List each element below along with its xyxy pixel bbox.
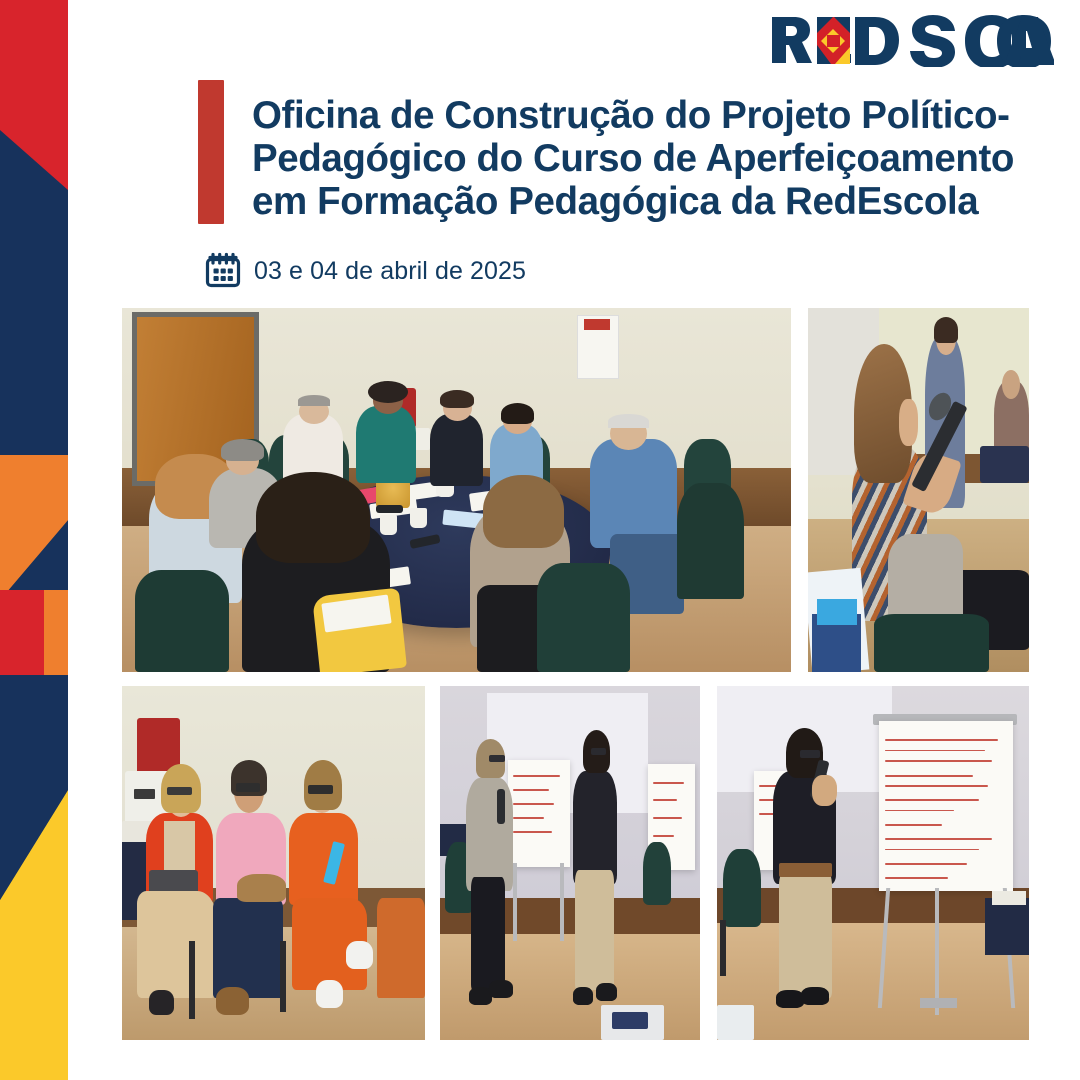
title-line-2: Pedagógico do Curso de Aperfeiçoamento [252, 138, 1014, 181]
photo-woman-with-microphone[interactable] [808, 308, 1029, 672]
page-title: Oficina de Construção do Projeto Polític… [252, 80, 1014, 224]
event-date-label: 03 e 04 de abril de 2025 [254, 257, 526, 286]
event-date: 03 e 04 de abril de 2025 [202, 250, 526, 292]
photo-presenter-with-flipchart[interactable] [717, 686, 1029, 1040]
title-accent-rule [198, 80, 224, 224]
photo-round-table-meeting[interactable] [122, 308, 791, 672]
photo-two-presenters[interactable] [440, 686, 700, 1040]
redescola-logo[interactable] [770, 14, 1054, 68]
left-decorative-bar [0, 0, 68, 1080]
title-line-3: em Formação Pedagógica da RedEscola [252, 181, 1014, 224]
title-line-1: Oficina de Construção do Projeto Polític… [252, 95, 1014, 138]
title-block: Oficina de Construção do Projeto Polític… [198, 80, 1028, 224]
photo-three-seated-participants[interactable] [122, 686, 425, 1040]
calendar-icon [202, 250, 244, 292]
poster-canvas: Oficina de Construção do Projeto Polític… [0, 0, 1080, 1080]
